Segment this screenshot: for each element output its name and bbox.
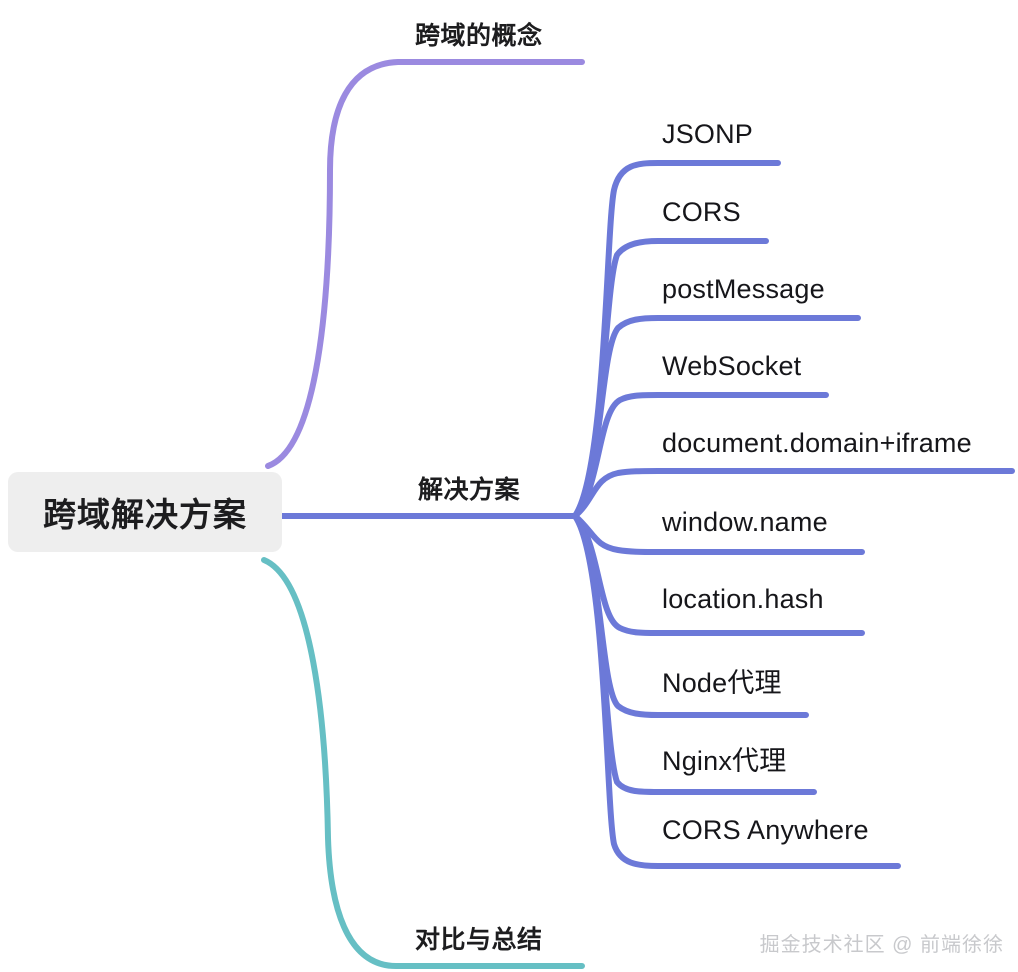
leaf-label-locationhash[interactable]: location.hash [662, 584, 824, 615]
leaf-label-documentdomain-iframe[interactable]: document.domain+iframe [662, 428, 972, 459]
leaf-label-postmessage[interactable]: postMessage [662, 274, 825, 305]
mindmap-canvas: 跨域解决方案 跨域的概念 解决方案 对比与总结 JSONP CORS postM… [0, 0, 1018, 972]
branch-label-solutions[interactable]: 解决方案 [418, 470, 520, 506]
root-node[interactable]: 跨域解决方案 [8, 472, 282, 552]
leaf-label-jsonp[interactable]: JSONP [662, 119, 753, 150]
watermark: 掘金技术社区 @ 前端徐徐 [760, 928, 1004, 957]
leaf-label-windowname[interactable]: window.name [662, 507, 828, 538]
branch-line-concept [268, 62, 582, 466]
branch-line-summary [264, 560, 582, 966]
leaf-label-nginx-proxy[interactable]: Nginx代理 [662, 739, 786, 778]
branch-label-concept[interactable]: 跨域的概念 [415, 16, 543, 52]
leaf-label-websocket[interactable]: WebSocket [662, 351, 801, 382]
leaf-line-postmessage [575, 318, 858, 516]
leaf-label-node-proxy[interactable]: Node代理 [662, 661, 782, 700]
root-node-label: 跨域解决方案 [43, 488, 247, 536]
leaf-label-cors-anywhere[interactable]: CORS Anywhere [662, 815, 869, 846]
branch-label-summary[interactable]: 对比与总结 [415, 920, 543, 956]
leaf-label-cors[interactable]: CORS [662, 197, 741, 228]
